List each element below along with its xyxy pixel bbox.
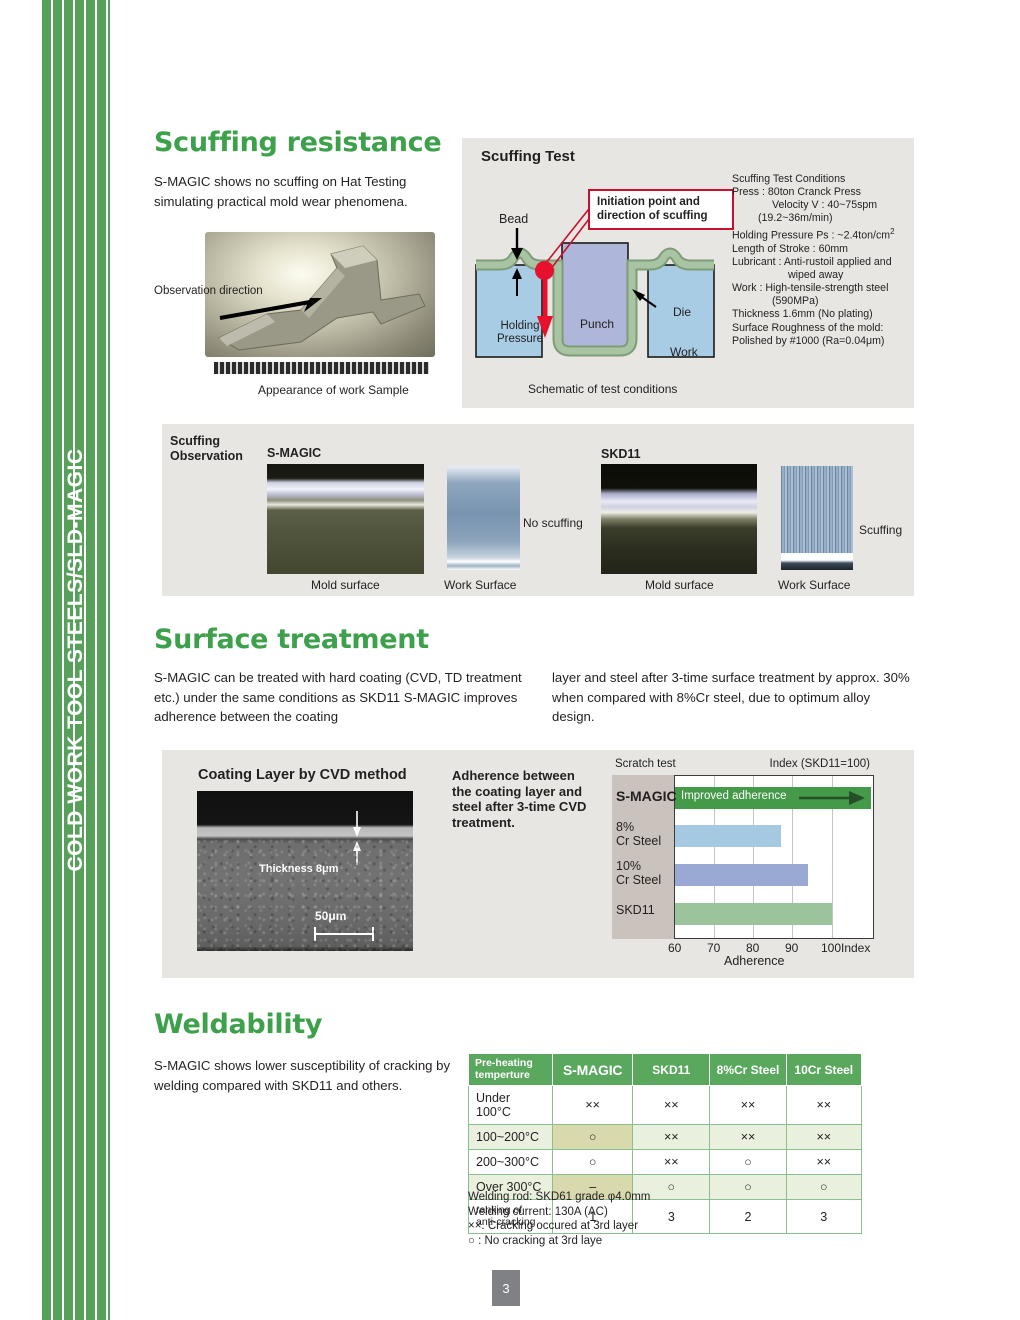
xtick-90: 90	[785, 941, 798, 955]
bar-skd11	[675, 903, 832, 925]
table-row: Under 100°C ×× ×× ×× ××	[469, 1086, 862, 1125]
weldability-body-text: S-MAGIC shows lower susceptibility of cr…	[154, 1056, 454, 1095]
cvd-coating-micrograph: Thickness 8μm 50μm	[197, 791, 413, 951]
punch-label: Punch	[580, 317, 614, 331]
table-header-skd11: SKD11	[633, 1054, 710, 1086]
chart-plot-area: Improved adherence	[674, 775, 874, 939]
chart-label-skd11: SKD11	[616, 903, 655, 917]
table-header-s-magic: S-MAGIC	[553, 1054, 633, 1086]
adherence-bar-chart: Improved adherence S-MAGIC 8%Cr Steel 10…	[612, 775, 874, 939]
note-line: ××: Cracking occured at 3rd layer	[468, 1219, 650, 1234]
chart-label-8pct-cr-steel: 8%Cr Steel	[616, 820, 661, 848]
xaxis-end-label: Index	[841, 941, 870, 955]
xtick-100: 100	[821, 941, 841, 955]
cell-value: ○	[710, 1175, 786, 1200]
work-label: Work	[670, 345, 698, 359]
cell-value: ××	[710, 1125, 786, 1150]
note-line: Welding current: 130A (AC)	[468, 1205, 650, 1220]
work-sample-caption: Appearance of work Sample	[258, 383, 409, 397]
skd11-mold-caption: Mold surface	[645, 578, 714, 592]
condition-item: Thickness 1.6mm (No plating)	[732, 308, 912, 321]
coating-layer-title: Coating Layer by CVD method	[198, 767, 407, 783]
table-header-preheating: Pre-heatingtemperture	[469, 1054, 553, 1086]
page-number: 3	[492, 1270, 520, 1306]
condition-item: Press : 80ton Cranck Press	[732, 186, 912, 199]
cell-value: ××	[633, 1125, 710, 1150]
page-content: Scuffing resistance S-MAGIC shows no scu…	[0, 0, 1020, 1320]
cell-value: ××	[786, 1150, 861, 1175]
holding-pressure-label: Holding Pressure	[492, 320, 548, 346]
schematic-caption: Schematic of test conditions	[528, 382, 677, 396]
skd11-work-surface-photo	[781, 466, 853, 570]
scuffing-test-conditions: Scuffing Test Conditions Press : 80ton C…	[732, 173, 912, 348]
scuffing-test-title: Scuffing Test	[481, 148, 575, 165]
scratch-test-chart-container: Scratch test Index (SKD11=100) Improved …	[612, 758, 874, 970]
xtick-80: 80	[746, 941, 759, 955]
cell-value: ○	[553, 1125, 633, 1150]
bar-8pct-cr-steel	[675, 825, 781, 847]
cell-value: ××	[553, 1086, 633, 1125]
adherence-caption: Adherence between the coating layer and …	[452, 768, 588, 830]
note-line: ○ : No cracking at 3rd laye	[468, 1234, 650, 1249]
condition-item: Velocity V : 40~75spm	[732, 199, 912, 212]
condition-item: wiped away	[732, 269, 912, 282]
row-label: Under 100°C	[469, 1086, 553, 1125]
cell-value: ○	[710, 1150, 786, 1175]
smagic-work-caption: Work Surface	[444, 578, 516, 592]
condition-item: Length of Stroke : 60mm	[732, 243, 912, 256]
cell-value: ××	[633, 1086, 710, 1125]
chart-annotation: Improved adherence	[681, 790, 786, 802]
bead-label: Bead	[499, 212, 528, 226]
cell-value: 3	[786, 1200, 861, 1234]
observation-smagic-name: S-MAGIC	[267, 446, 321, 460]
condition-item: Holding Pressure Ps : ~2.4ton/cm2	[732, 225, 912, 243]
condition-item: (19.2~36m/min)	[732, 212, 912, 225]
observation-skd11-name: SKD11	[601, 447, 641, 461]
chart-title: Scratch test	[615, 758, 676, 770]
note-line: Welding rod: SKD61 grade φ4.0mm	[468, 1190, 650, 1205]
ruler-photo	[214, 362, 429, 374]
condition-item: Lubricant : Anti-rustoil applied and	[732, 256, 912, 269]
cell-value: ××	[786, 1086, 861, 1125]
cell-value: ××	[710, 1086, 786, 1125]
xtick-60: 60	[668, 941, 681, 955]
smagic-work-surface-photo	[447, 466, 520, 570]
table-header-row: Pre-heatingtemperture S-MAGIC SKD11 8%Cr…	[469, 1054, 862, 1086]
smagic-mold-surface-photo	[267, 464, 424, 574]
conditions-title: Scuffing Test Conditions	[732, 173, 912, 186]
thickness-label: Thickness 8μm	[259, 863, 339, 875]
table-row: 200~300°C ○ ×× ○ ××	[469, 1150, 862, 1175]
weldability-notes: Welding rod: SKD61 grade φ4.0mm Welding …	[468, 1190, 650, 1248]
table-row: 100~200°C ○ ×× ×× ××	[469, 1125, 862, 1150]
surface-body-left: S-MAGIC can be treated with hard coating…	[154, 668, 539, 727]
die-label: Die	[673, 305, 691, 319]
improved-adherence-arrow-icon	[799, 787, 869, 809]
bead-arrow-down	[509, 228, 525, 264]
bar-s-magic: Improved adherence	[675, 787, 871, 809]
bar-10pct-cr-steel	[675, 864, 808, 886]
skd11-work-caption: Work Surface	[778, 578, 850, 592]
xaxis-label: Adherence	[724, 954, 784, 968]
bead-arrow-up	[509, 268, 525, 296]
condition-item: Work : High-tensile-strength steel	[732, 282, 912, 295]
skd11-mold-surface-photo	[601, 464, 757, 574]
chart-index-note: Index (SKD11=100)	[770, 758, 870, 770]
observation-title: Scuffing Observation	[170, 434, 260, 464]
smagic-result-label: No scuffing	[523, 516, 583, 530]
scuffing-body-text: S-MAGIC shows no scuffing on Hat Testing…	[154, 172, 409, 211]
condition-item: Surface Roughness of the mold:	[732, 322, 912, 335]
surface-body-right: layer and steel after 3-time surface tre…	[552, 668, 914, 727]
chart-label-s-magic: S-MAGIC	[616, 789, 677, 803]
condition-item: (590MPa)	[732, 295, 912, 308]
cell-value: 2	[710, 1200, 786, 1234]
cell-value: ××	[786, 1125, 861, 1150]
micrograph-annotations	[197, 791, 413, 951]
cell-value: ○	[553, 1150, 633, 1175]
condition-item: Polished by #1000 (Ra=0.04μm)	[732, 335, 912, 348]
xtick-70: 70	[707, 941, 720, 955]
chart-label-10pct-cr-steel: 10%Cr Steel	[616, 859, 661, 887]
table-header-8cr: 8%Cr Steel	[710, 1054, 786, 1086]
smagic-mold-caption: Mold surface	[311, 578, 380, 592]
page-title-scuffing: Scuffing resistance	[154, 127, 441, 158]
skd11-result-label: Scuffing	[859, 523, 902, 537]
page-title-weldability: Weldability	[154, 1009, 322, 1040]
cell-value: ××	[633, 1150, 710, 1175]
row-label: 200~300°C	[469, 1150, 553, 1175]
cell-value: ○	[786, 1175, 861, 1200]
page-title-surface-treatment: Surface treatment	[154, 624, 429, 655]
table-header-10cr: 10Cr Steel	[786, 1054, 861, 1086]
observation-direction-arrow	[218, 296, 328, 324]
initiation-point-callout: Initiation point and direction of scuffi…	[588, 189, 734, 230]
scale-bar-label: 50μm	[315, 909, 346, 923]
row-label: 100~200°C	[469, 1125, 553, 1150]
